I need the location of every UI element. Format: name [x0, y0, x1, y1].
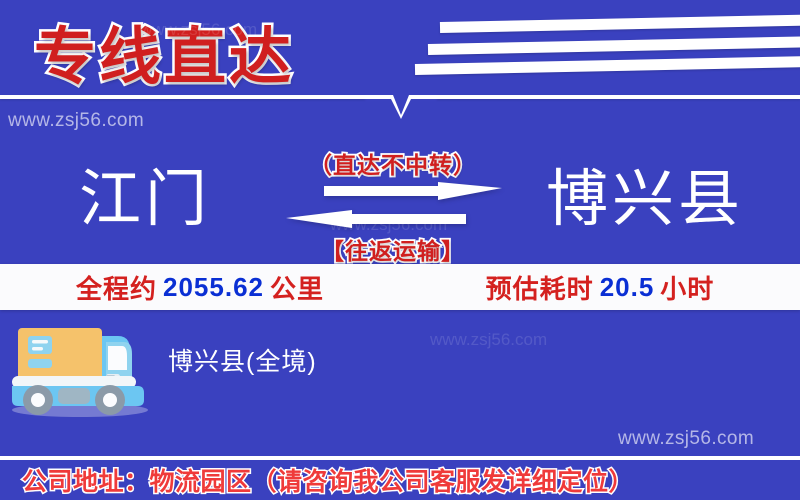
decorative-stripe-2	[428, 36, 800, 55]
destination-city: 博兴县	[500, 150, 790, 250]
tagline-roundtrip: 【往返运输】	[278, 232, 508, 266]
distance-label-suffix: 公里	[270, 269, 324, 306]
distance-label-prefix: 全程约	[76, 269, 157, 306]
header-divider-right	[437, 95, 800, 99]
watermark-faint-top: www.zsj56.com	[140, 20, 257, 40]
info-bar: 全程约 2055.62 公里 预估耗时 20.5 小时	[0, 264, 800, 310]
company-address: 公司地址：物流园区（请咨询我公司客服发详细定位）	[0, 462, 634, 498]
bidirectional-arrow-icon	[286, 182, 502, 230]
duration-label-prefix: 预估耗时	[486, 269, 594, 306]
distance-info: 全程约 2055.62 公里	[0, 264, 400, 310]
coverage-area-label: 博兴县(全境)	[168, 342, 317, 378]
delivery-truck-icon	[6, 318, 158, 418]
watermark-bottom-right: www.zsj56.com	[618, 428, 754, 450]
footer-bar: 公司地址：物流园区（请咨询我公司客服发详细定位）	[0, 456, 800, 500]
distance-value: 2055.62	[157, 272, 270, 303]
duration-info: 预估耗时 20.5 小时	[400, 264, 800, 310]
logistics-route-banner: 专线直达 www.zsj56.com www.zsj56.com www.zsj…	[0, 0, 800, 500]
route-middle: （直达不中转） 【往返运输】	[278, 140, 508, 270]
watermark-faint-lower: www.zsj56.com	[430, 330, 547, 350]
decorative-stripe-3	[415, 55, 800, 75]
duration-label-suffix: 小时	[660, 269, 714, 306]
watermark-top-left: www.zsj56.com	[8, 110, 144, 132]
decorative-stripe-1	[440, 14, 800, 33]
route-row: 江门 （直达不中转） 【往返运输】 博兴县	[0, 150, 800, 260]
duration-value: 20.5	[594, 272, 661, 303]
chevron-down-icon	[363, 93, 439, 119]
tagline-direct: （直达不中转）	[278, 146, 508, 180]
origin-city: 江门	[0, 150, 290, 250]
